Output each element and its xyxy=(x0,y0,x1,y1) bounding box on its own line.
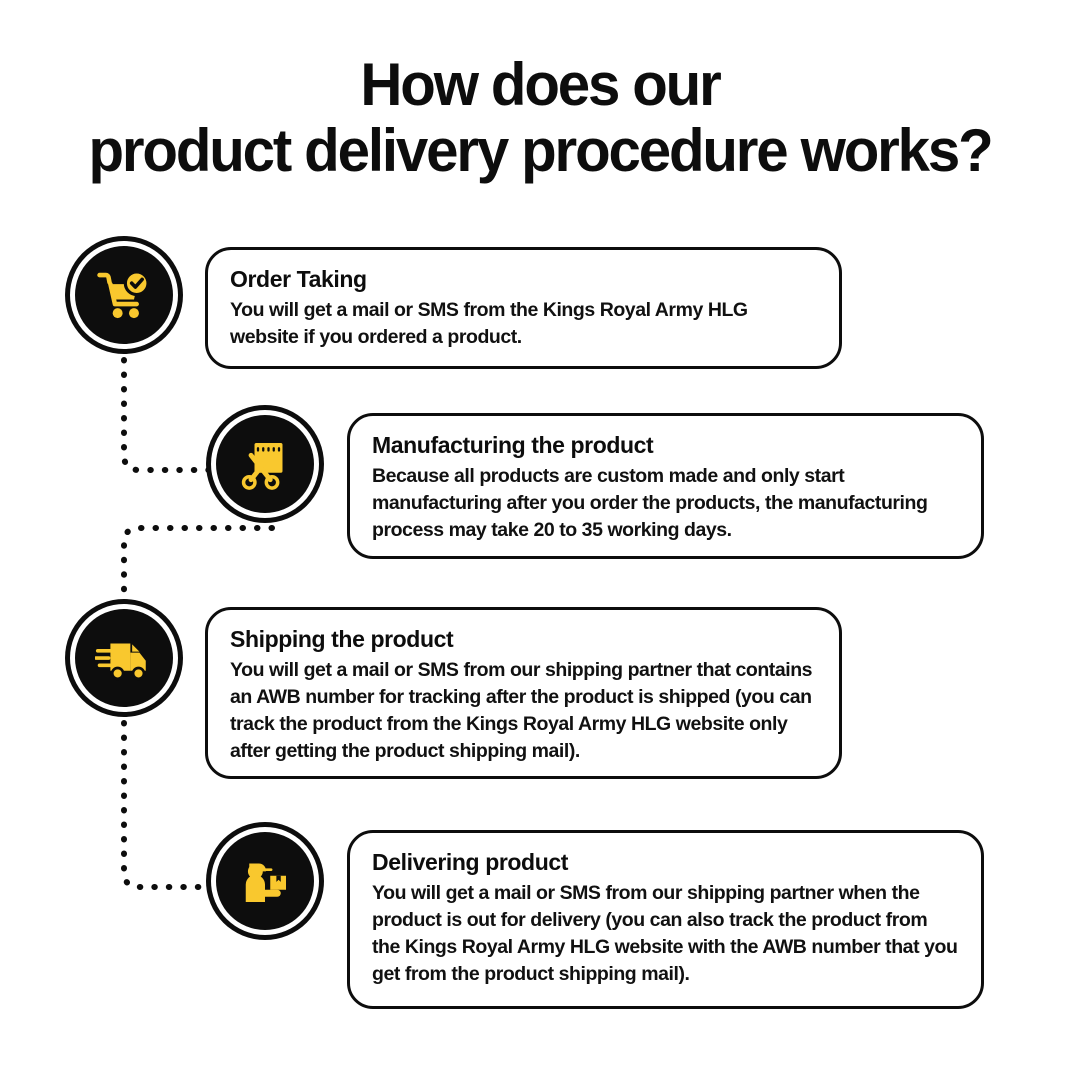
page-title-line-2: product delivery procedure works? xyxy=(16,118,1064,184)
step-badge-shipping xyxy=(75,609,173,707)
scissors-cutting-fabric-icon xyxy=(237,436,293,492)
step-body: Because all products are custom made and… xyxy=(372,463,959,544)
step-badge-delivering xyxy=(216,832,314,930)
step-card-manufacturing: Manufacturing the product Because all pr… xyxy=(347,413,984,559)
step-title: Order Taking xyxy=(230,264,817,294)
step-title: Shipping the product xyxy=(230,624,817,654)
connector-step1-to-step2 xyxy=(124,360,210,470)
step-card-delivering: Delivering product You will get a mail o… xyxy=(347,830,984,1009)
step-body: You will get a mail or SMS from our ship… xyxy=(230,657,817,765)
shopping-cart-check-icon xyxy=(95,266,153,324)
step-card-shipping: Shipping the product You will get a mail… xyxy=(205,607,842,779)
connector-step2-to-step3 xyxy=(124,528,272,600)
step-title: Manufacturing the product xyxy=(372,430,959,460)
infographic-root: How does our product delivery procedure … xyxy=(0,0,1080,1080)
step-body-emphasis: 20 to 35 xyxy=(533,519,602,541)
step-body: You will get a mail or SMS from the King… xyxy=(230,297,817,351)
connector-step3-to-step4 xyxy=(124,723,210,887)
step-body: You will get a mail or SMS from our ship… xyxy=(372,880,959,988)
step-badge-manufacturing xyxy=(216,415,314,513)
delivery-truck-icon xyxy=(95,629,153,687)
page-title: How does our product delivery procedure … xyxy=(0,52,1080,184)
step-badge-order-taking xyxy=(75,246,173,344)
step-title: Delivering product xyxy=(372,847,959,877)
delivery-person-package-icon xyxy=(237,853,293,909)
page-title-line-1: How does our xyxy=(16,52,1064,118)
step-body-part2: working days. xyxy=(602,519,731,541)
step-card-order-taking: Order Taking You will get a mail or SMS … xyxy=(205,247,842,369)
